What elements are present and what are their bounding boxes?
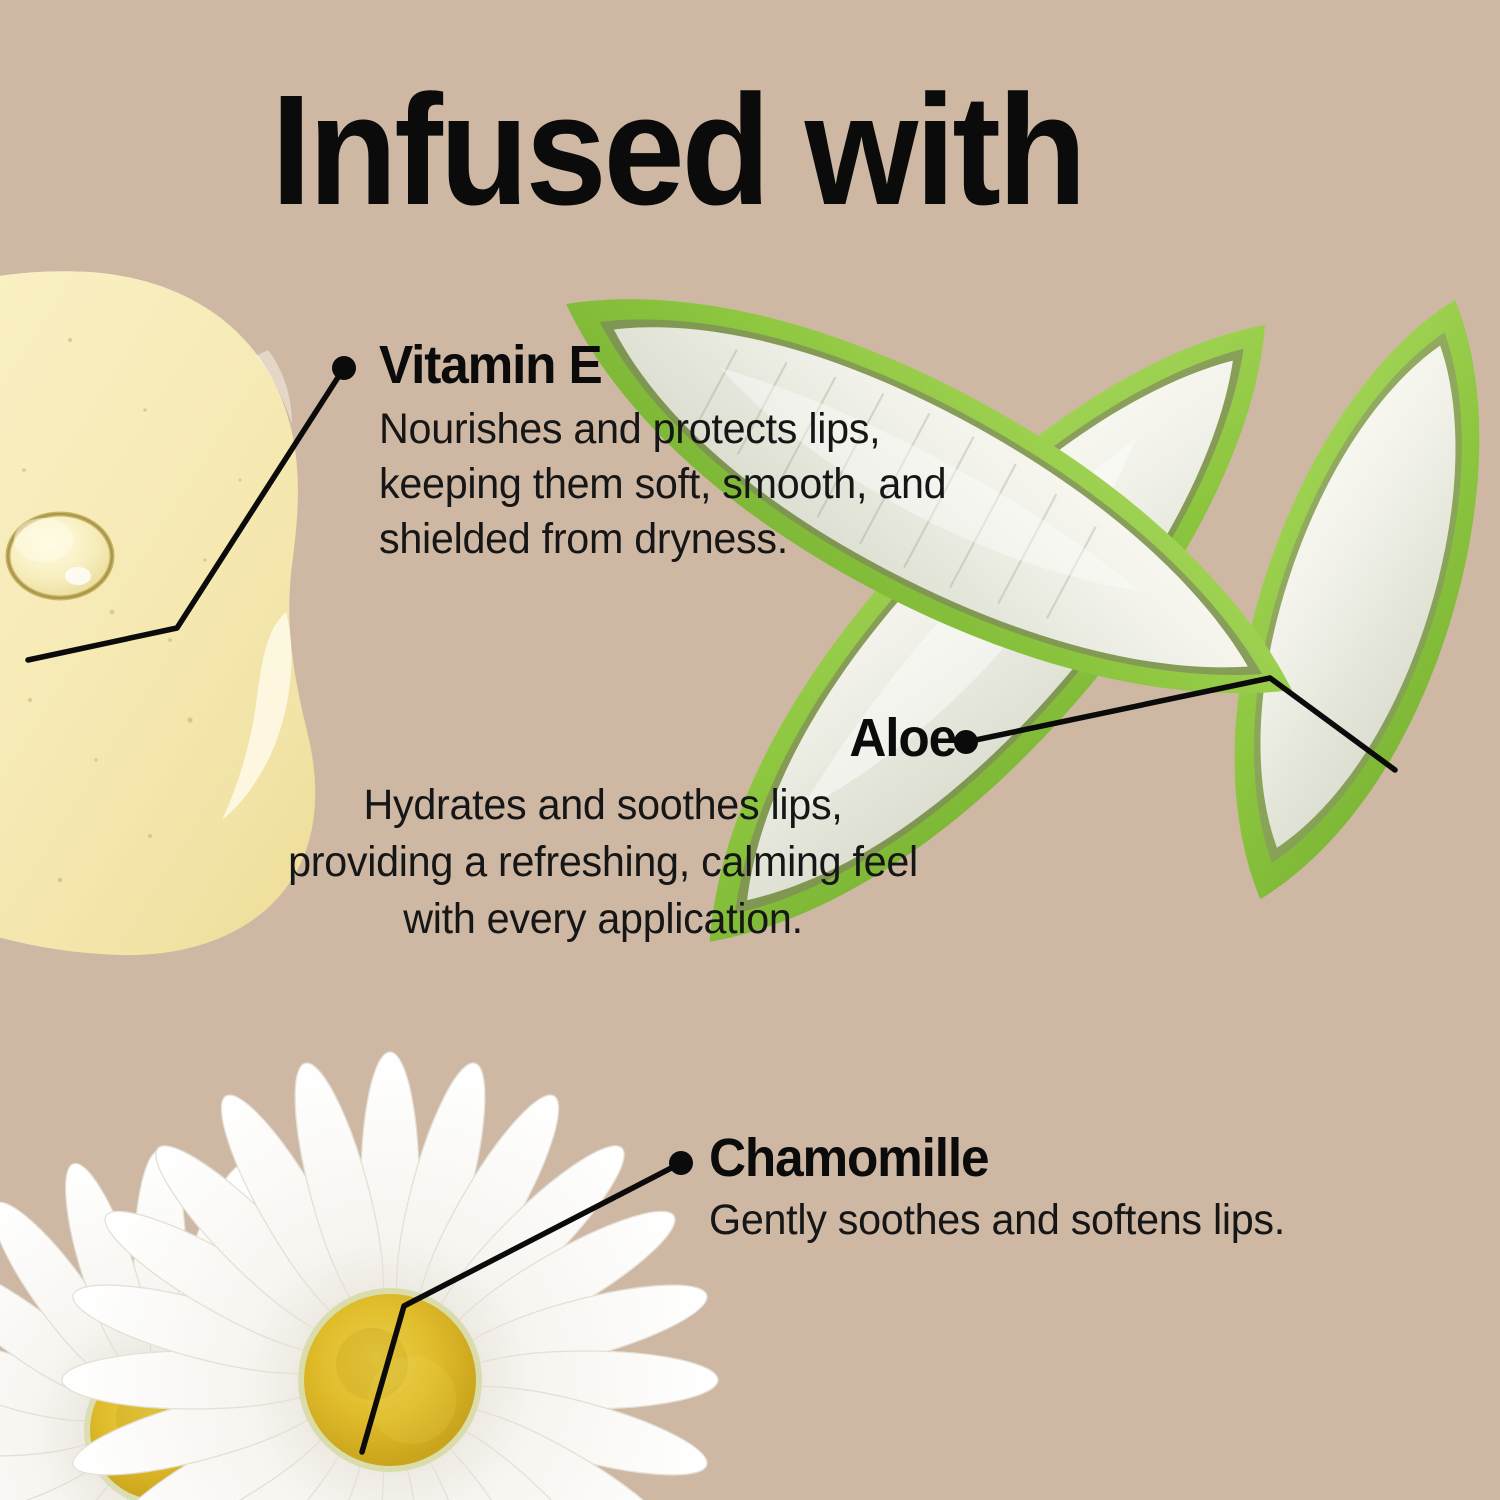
description-line: Gently soothes and softens lips. xyxy=(709,1193,1285,1248)
leader-line-vitamin-e xyxy=(28,368,344,660)
callout-chamomille: Chamomille Gently soothes and softens li… xyxy=(709,1127,1309,1248)
infographic-canvas: Infused with Vitamin E Nourishes and pro… xyxy=(0,0,1500,1500)
ingredient-name-chamomille: Chamomille xyxy=(709,1127,1279,1189)
leader-line-chamomille xyxy=(362,1163,681,1452)
ingredient-name-vitamin-e: Vitamin E xyxy=(379,334,940,396)
page-title: Infused with xyxy=(271,72,1084,229)
description-line: Hydrates and soothes lips, xyxy=(264,777,942,834)
description-line: keeping them soft, smooth, and xyxy=(379,457,946,512)
ingredient-description-chamomille: Gently soothes and softens lips. xyxy=(709,1193,1285,1248)
ingredient-description-aloe: Hydrates and soothes lips, providing a r… xyxy=(264,777,942,948)
leader-dot-aloe xyxy=(954,730,978,754)
description-line: providing a refreshing, calming feel xyxy=(264,834,942,891)
description-line: Nourishes and protects lips, xyxy=(379,402,946,457)
callout-vitamin-e: Vitamin E Nourishes and protects lips, k… xyxy=(379,334,970,567)
leader-dot-chamomille xyxy=(669,1151,693,1175)
ingredient-name-aloe: Aloe xyxy=(285,707,956,769)
ingredient-description-vitamin-e: Nourishes and protects lips, keeping the… xyxy=(379,402,946,567)
leader-dot-vitamin-e xyxy=(332,356,356,380)
callout-aloe: Aloe Hydrates and soothes lips, providin… xyxy=(250,707,956,948)
leader-line-aloe xyxy=(966,678,1395,770)
description-line: with every application. xyxy=(264,891,942,948)
description-line: shielded from dryness. xyxy=(379,512,946,567)
